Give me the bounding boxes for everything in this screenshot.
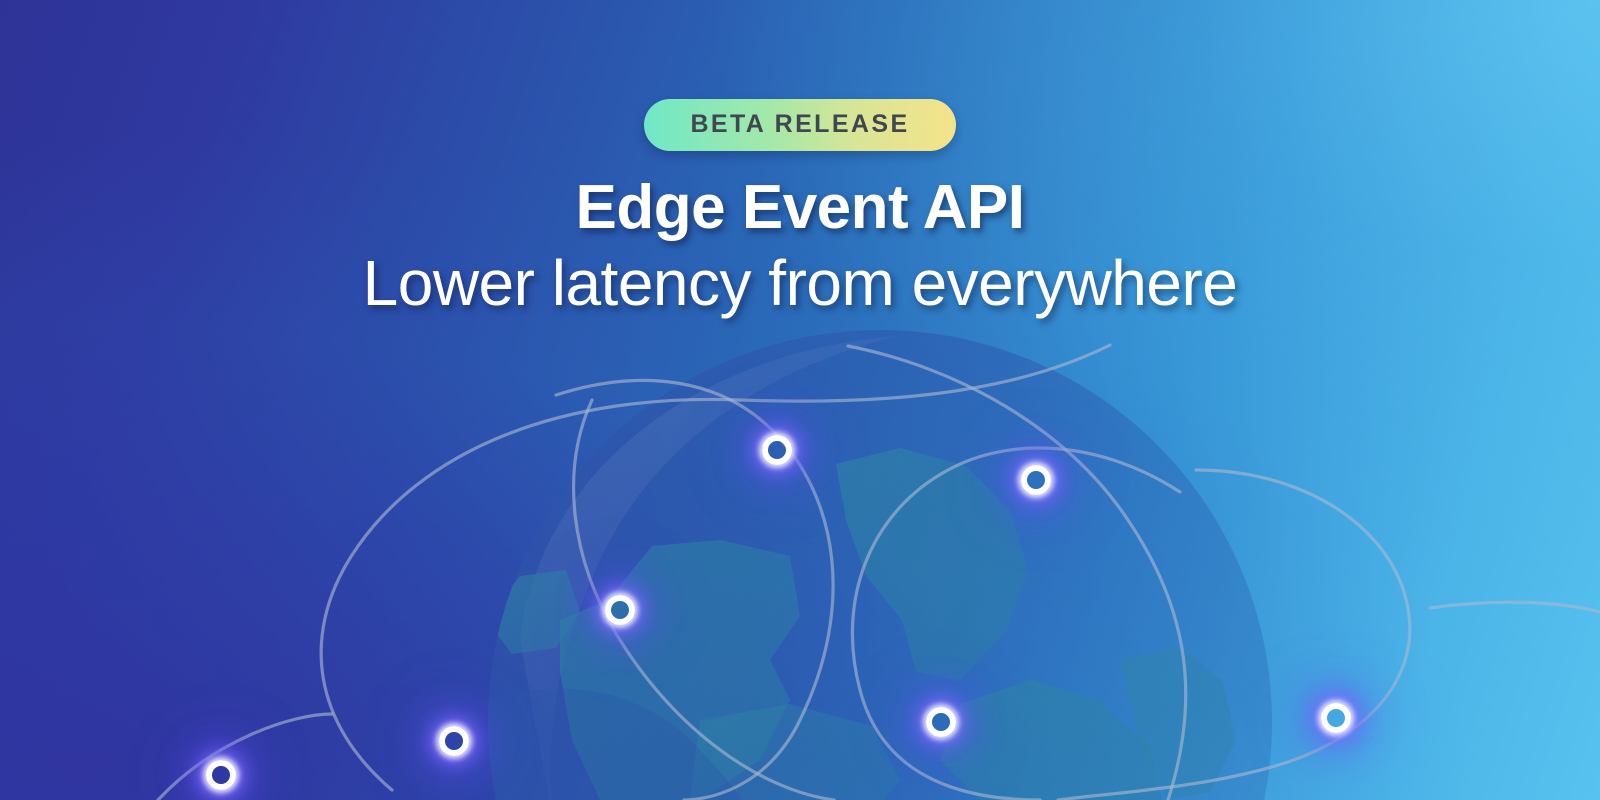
page-subtitle: Lower latency from everywhere bbox=[0, 248, 1600, 318]
network-node[interactable] bbox=[1021, 465, 1051, 495]
hero-banner: BETA RELEASE Edge Event API Lower latenc… bbox=[0, 0, 1600, 800]
orbit-arc-8 bbox=[1430, 602, 1600, 612]
network-node[interactable] bbox=[926, 707, 956, 737]
network-node[interactable] bbox=[439, 726, 469, 756]
hero-text-block: BETA RELEASE Edge Event API Lower latenc… bbox=[0, 0, 1600, 318]
page-title: Edge Event API bbox=[0, 175, 1600, 240]
network-node[interactable] bbox=[1321, 703, 1351, 733]
network-node[interactable] bbox=[206, 760, 236, 790]
beta-release-badge[interactable]: BETA RELEASE bbox=[644, 99, 955, 151]
orbit-arc-7 bbox=[158, 714, 332, 800]
network-node[interactable] bbox=[605, 595, 635, 625]
network-node[interactable] bbox=[762, 435, 792, 465]
